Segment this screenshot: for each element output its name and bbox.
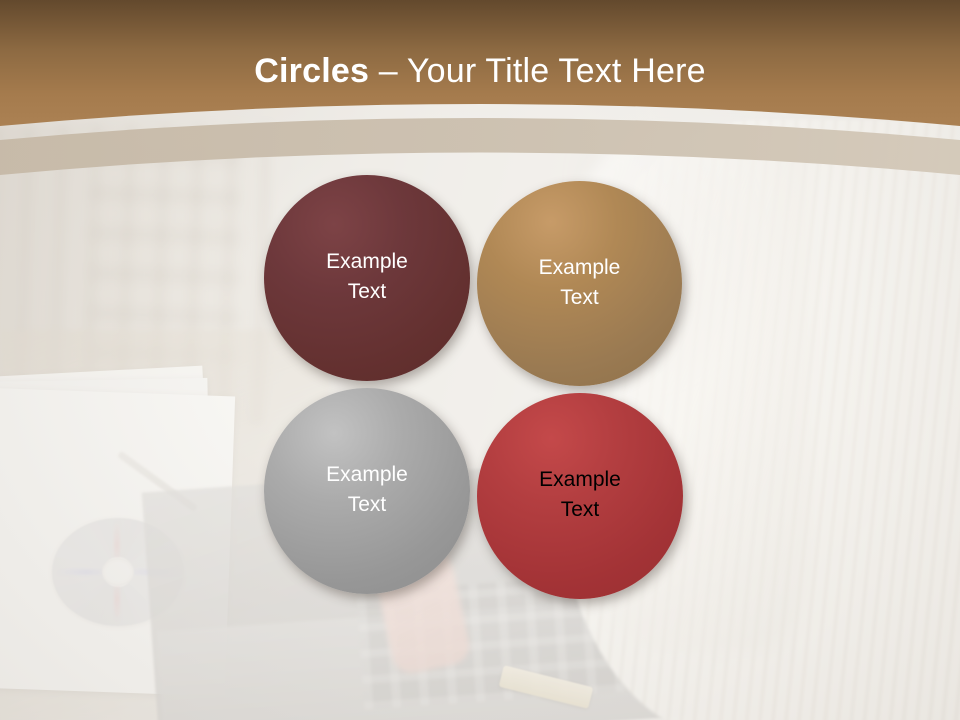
circle-label-line1: Example — [539, 465, 621, 495]
slide-title: Circles – Your Title Text Here — [0, 50, 960, 92]
circle-label-line1: Example — [539, 253, 621, 283]
circle-label-line2: Text — [539, 495, 621, 525]
circle-shape-top-right[interactable]: Example Text — [477, 181, 682, 386]
circle-label-line1: Example — [326, 460, 408, 490]
slide-header-banner: Circles – Your Title Text Here — [0, 0, 960, 175]
circle-label-top-right: Example Text — [539, 253, 621, 315]
slide-title-bold: Circles — [254, 52, 369, 90]
circle-label-bottom-right: Example Text — [539, 465, 621, 527]
presentation-slide: Circles – Your Title Text Here Example T… — [0, 0, 960, 720]
circle-shape-bottom-left[interactable]: Example Text — [264, 388, 470, 594]
circle-label-line2: Text — [326, 490, 408, 520]
circle-shape-bottom-right[interactable]: Example Text — [477, 393, 683, 599]
circle-label-top-left: Example Text — [326, 247, 408, 309]
slide-title-regular: Your Title Text Here — [407, 52, 706, 90]
circle-label-line2: Text — [326, 277, 408, 307]
circle-shape-top-left[interactable]: Example Text — [264, 175, 470, 381]
circle-label-bottom-left: Example Text — [326, 460, 408, 522]
circle-label-line2: Text — [539, 283, 621, 313]
circle-label-line1: Example — [326, 247, 408, 277]
slide-title-separator: – — [369, 52, 407, 90]
